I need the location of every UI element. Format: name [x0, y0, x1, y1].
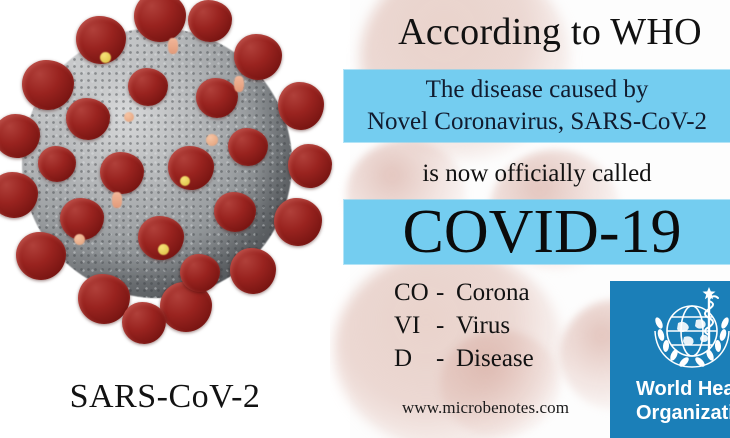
virus-marker-dot [206, 134, 218, 146]
content-panel: According to WHO The disease caused by N… [330, 0, 730, 438]
acronym-value: Virus [456, 309, 510, 342]
list-item: D-Disease [394, 342, 534, 375]
list-item: VI-Virus [394, 309, 534, 342]
virus-spike [16, 232, 66, 280]
acronym-value: Disease [456, 342, 534, 375]
virus-spike [180, 254, 220, 292]
virus-spike-stalk [168, 38, 178, 54]
virus-spike [274, 198, 322, 246]
virus-spike [230, 248, 276, 294]
who-emblem-icon [640, 287, 730, 375]
subtitle-line-2: Novel Coronavirus, SARS-CoV-2 [344, 108, 730, 136]
acronym-value: Corona [456, 276, 530, 309]
covid19-infographic: SARS-CoV-2 According to WHO The disease … [0, 0, 730, 438]
source-website-url[interactable]: www.microbenotes.com [402, 398, 569, 418]
virus-marker-dot [158, 244, 169, 255]
virus-image-panel: SARS-CoV-2 [0, 0, 350, 438]
disease-name: COVID-19 [354, 199, 730, 265]
virus-marker-dot [74, 234, 85, 245]
acronym-key: VI [394, 309, 436, 342]
virus-marker-dot [180, 176, 190, 186]
who-logo-badge: World Health Organization [610, 281, 730, 438]
virus-caption: SARS-CoV-2 [0, 378, 330, 416]
acronym-dash: - [436, 342, 456, 375]
who-logo-text: World Health Organization [636, 377, 730, 425]
acronym-key: CO [394, 276, 436, 309]
virus-spike [288, 144, 332, 188]
who-logo-text-line1: World Health [636, 377, 730, 401]
virus-spike [234, 34, 282, 80]
subtitle-line-3: is now officially called [344, 160, 730, 188]
virus-marker-dot [100, 52, 111, 63]
acronym-key: D [394, 342, 436, 375]
virus-marker-dot [124, 112, 134, 122]
virus-spike [122, 302, 166, 344]
acronym-breakdown-list: CO-Corona VI-Virus D-Disease [394, 276, 534, 375]
virus-spike [278, 82, 324, 130]
acronym-dash: - [436, 276, 456, 309]
virus-spike-stalk [234, 76, 244, 92]
who-logo-text-line2: Organization [636, 401, 730, 425]
sars-cov-2-virus-illustration [0, 0, 342, 366]
virus-spike-stalk [112, 192, 122, 208]
list-item: CO-Corona [394, 276, 534, 309]
virus-spike [188, 0, 232, 42]
acronym-dash: - [436, 309, 456, 342]
page-title: According to WHO [330, 10, 730, 54]
subtitle-line-1: The disease caused by [344, 76, 730, 104]
